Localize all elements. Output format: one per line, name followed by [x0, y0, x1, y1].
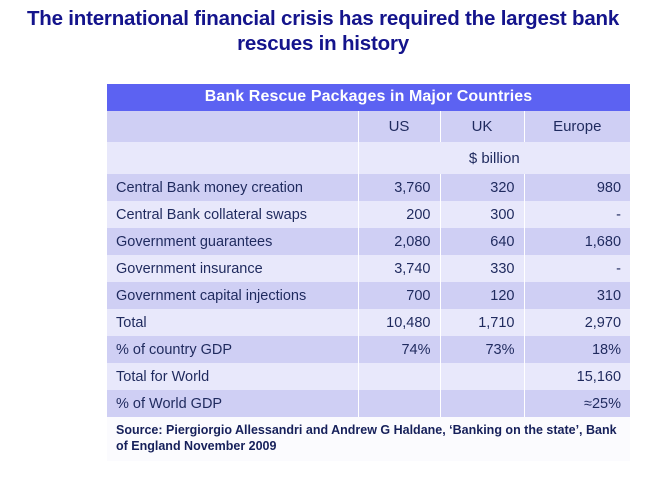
row-us: 2,080	[358, 228, 440, 255]
unit-row-value: $ billion	[358, 142, 630, 174]
row-us: 3,740	[358, 255, 440, 282]
row-label: Government capital injections	[107, 282, 358, 309]
table-banner-title: Bank Rescue Packages in Major Countries	[107, 84, 630, 111]
slide-canvas: The international financial crisis has r…	[0, 0, 646, 484]
row-label: Total for World	[107, 363, 358, 390]
row-uk: 73%	[440, 336, 524, 363]
column-header-europe: Europe	[524, 111, 630, 142]
unit-row-label	[107, 142, 358, 174]
table-row: Central Bank money creation 3,760 320 98…	[107, 174, 630, 201]
row-europe: ≈25%	[524, 390, 630, 417]
row-europe: 15,160	[524, 363, 630, 390]
row-us: 3,760	[358, 174, 440, 201]
row-label: Central Bank money creation	[107, 174, 358, 201]
row-europe: 18%	[524, 336, 630, 363]
row-us: 700	[358, 282, 440, 309]
bank-rescue-table-container: Bank Rescue Packages in Major Countries …	[107, 84, 630, 461]
column-header-label	[107, 111, 358, 142]
table-row: Total for World 15,160	[107, 363, 630, 390]
row-europe: -	[524, 255, 630, 282]
row-us: 10,480	[358, 309, 440, 336]
row-europe: 310	[524, 282, 630, 309]
row-europe: 980	[524, 174, 630, 201]
row-uk: 640	[440, 228, 524, 255]
row-uk: 300	[440, 201, 524, 228]
row-label: Total	[107, 309, 358, 336]
row-label: Government guarantees	[107, 228, 358, 255]
row-europe: 1,680	[524, 228, 630, 255]
row-label: Central Bank collateral swaps	[107, 201, 358, 228]
table-row: % of World GDP ≈25%	[107, 390, 630, 417]
row-us	[358, 390, 440, 417]
table-row: Total 10,480 1,710 2,970	[107, 309, 630, 336]
table-column-header-row: US UK Europe	[107, 111, 630, 142]
table-row: % of country GDP 74% 73% 18%	[107, 336, 630, 363]
column-header-uk: UK	[440, 111, 524, 142]
row-label: % of World GDP	[107, 390, 358, 417]
row-europe: 2,970	[524, 309, 630, 336]
table-row: Government guarantees 2,080 640 1,680	[107, 228, 630, 255]
row-uk: 330	[440, 255, 524, 282]
row-label: % of country GDP	[107, 336, 358, 363]
table-source-row: Source: Piergiorgio Allessandri and Andr…	[107, 417, 630, 461]
column-header-us: US	[358, 111, 440, 142]
table-banner-row: Bank Rescue Packages in Major Countries	[107, 84, 630, 111]
row-uk: 320	[440, 174, 524, 201]
table-row: Government insurance 3,740 330 -	[107, 255, 630, 282]
row-us	[358, 363, 440, 390]
table-row: Central Bank collateral swaps 200 300 -	[107, 201, 630, 228]
row-uk: 1,710	[440, 309, 524, 336]
row-uk	[440, 363, 524, 390]
row-us: 200	[358, 201, 440, 228]
row-europe: -	[524, 201, 630, 228]
row-uk: 120	[440, 282, 524, 309]
bank-rescue-table: Bank Rescue Packages in Major Countries …	[107, 84, 630, 461]
row-label: Government insurance	[107, 255, 358, 282]
row-us: 74%	[358, 336, 440, 363]
source-note: Source: Piergiorgio Allessandri and Andr…	[107, 417, 630, 461]
row-uk	[440, 390, 524, 417]
slide-title: The international financial crisis has r…	[16, 6, 630, 56]
table-unit-row: $ billion	[107, 142, 630, 174]
table-row: Government capital injections 700 120 31…	[107, 282, 630, 309]
